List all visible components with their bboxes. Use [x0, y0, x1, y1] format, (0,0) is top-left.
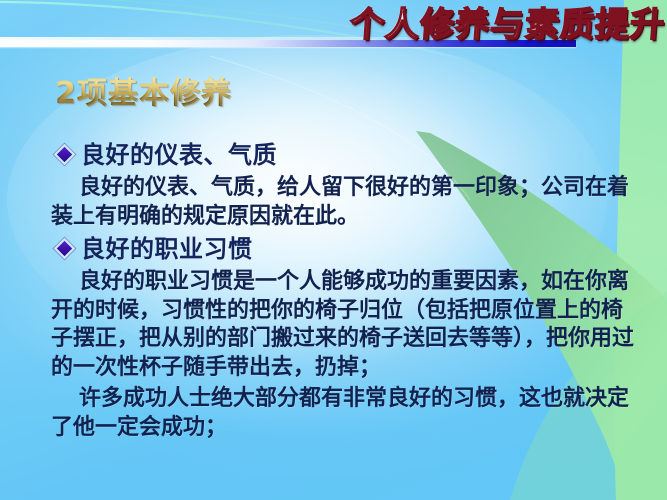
paragraph-habits-1: 良好的职业习惯是一个人能够成功的重要因素，如在你离开的时候，习惯性的把你的椅子归…: [51, 268, 637, 382]
paragraph-appearance-1: 良好的仪表、气质，给人留下很好的第一印象；公司在着装上有明确的规定原因就在此。: [51, 174, 637, 231]
slide-content: 良好的仪表、气质 良好的仪表、气质，给人留下很好的第一印象；公司在着装上有明确的…: [33, 138, 637, 443]
diamond-bullet-icon: [54, 144, 75, 165]
bullet-item-appearance: 良好的仪表、气质: [33, 138, 637, 172]
paragraph-habits-2: 许多成功人士绝大部分都有非常良好的习惯，这也就决定了他一定会成功；: [51, 385, 637, 442]
diamond-bullet-icon: [54, 238, 75, 259]
bullet-label-habits: 良好的职业习惯: [81, 232, 253, 266]
bullet-item-habits: 良好的职业习惯: [33, 232, 637, 266]
section-title: 2项基本修养: [55, 76, 232, 112]
header-title: 个人修养与素质提升: [349, 5, 667, 45]
bullet-label-appearance: 良好的仪表、气质: [81, 138, 277, 172]
slide-canvas: 个人修养与素质提升 2项基本修养 良好的仪表、气质 良好的仪表、气质，给人留下很…: [0, 0, 667, 500]
